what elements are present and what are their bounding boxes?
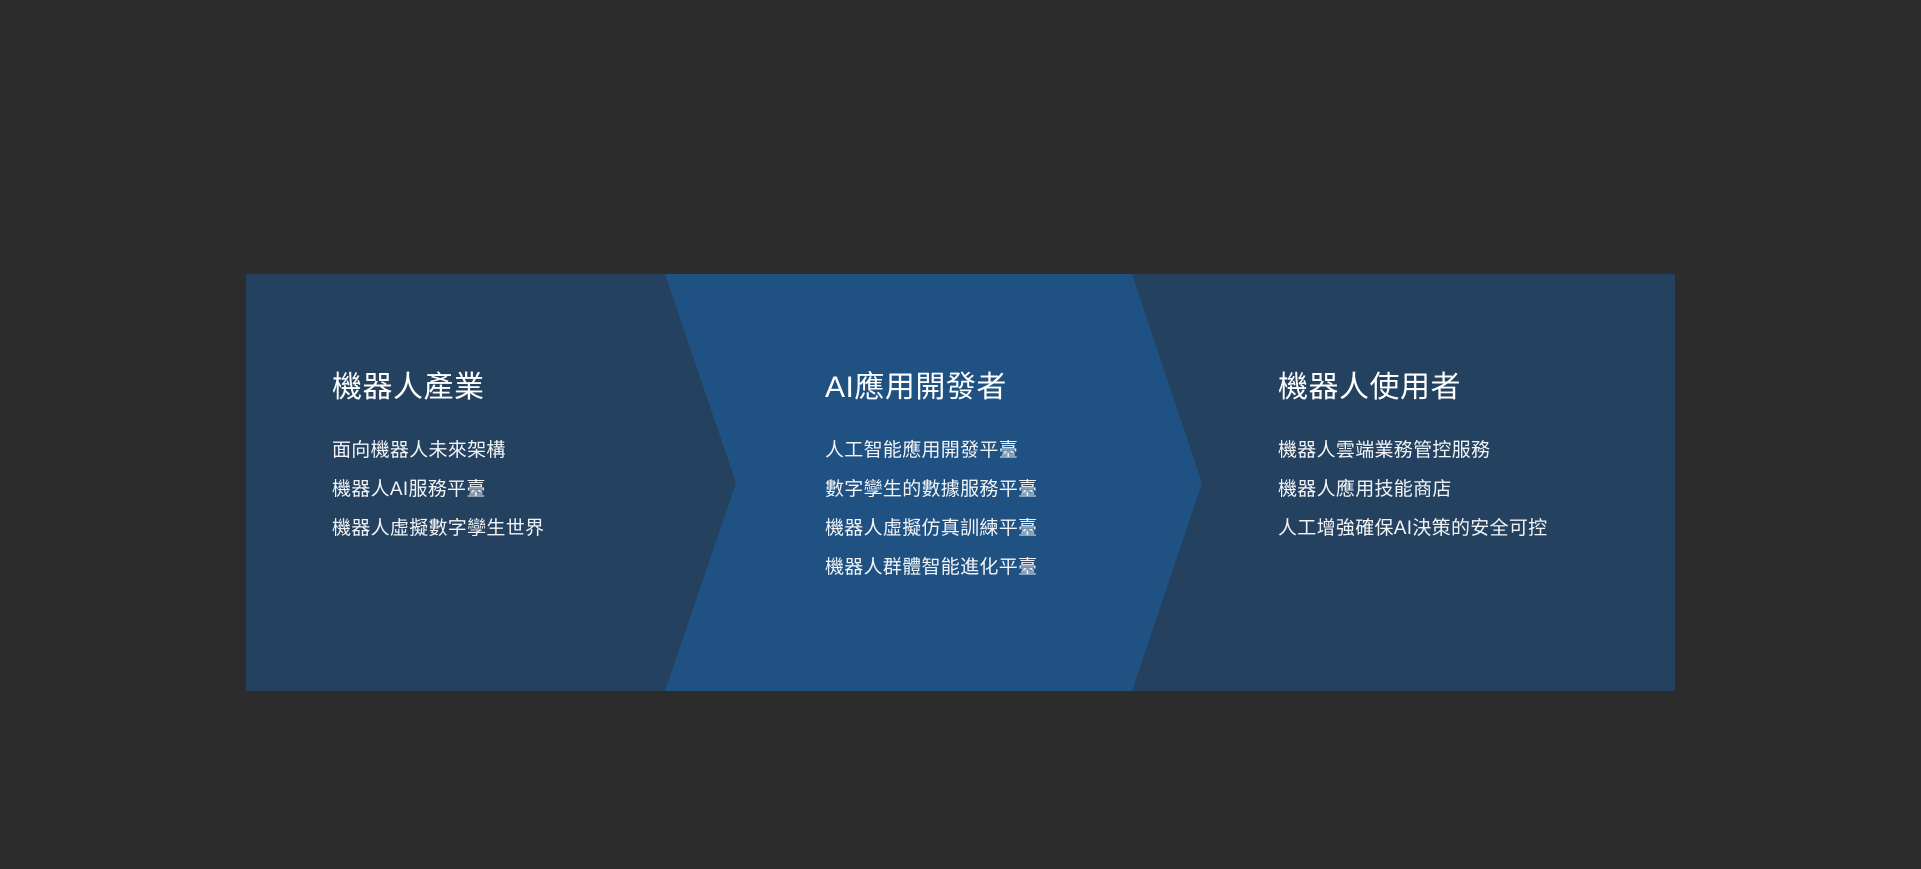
column-3-list: 機器人雲端業務管控服務 機器人應用技能商店 人工增強確保AI決策的安全可控: [1278, 431, 1547, 548]
list-item: 人工智能應用開發平臺: [825, 431, 1037, 470]
list-item: 機器人應用技能商店: [1278, 470, 1547, 509]
column-1-heading: 機器人產業: [332, 369, 485, 407]
column-1-list: 面向機器人未來架構 機器人AI服務平臺 機器人虛擬數字孿生世界: [332, 431, 544, 548]
three-stage-chevron-banner: 機器人產業 面向機器人未來架構 機器人AI服務平臺 機器人虛擬數字孿生世界 AI…: [246, 274, 1675, 691]
list-item: 機器人虛擬仿真訓練平臺: [825, 509, 1037, 548]
list-item: 機器人虛擬數字孿生世界: [332, 509, 544, 548]
list-item: 機器人AI服務平臺: [332, 470, 544, 509]
column-3-heading: 機器人使用者: [1278, 369, 1461, 407]
slide-canvas: 機器人產業 面向機器人未來架構 機器人AI服務平臺 機器人虛擬數字孿生世界 AI…: [0, 0, 1921, 869]
list-item: 數字孿生的數據服務平臺: [825, 470, 1037, 509]
list-item: 人工增強確保AI決策的安全可控: [1278, 509, 1547, 548]
list-item: 機器人雲端業務管控服務: [1278, 431, 1547, 470]
column-2-heading: AI應用開發者: [825, 369, 1007, 407]
list-item: 面向機器人未來架構: [332, 431, 544, 470]
stage-column-3: 機器人使用者 機器人雲端業務管控服務 機器人應用技能商店 人工增強確保AI決策的…: [1278, 274, 1638, 691]
stage-column-1: 機器人產業 面向機器人未來架構 機器人AI服務平臺 機器人虛擬數字孿生世界: [332, 274, 662, 691]
column-2-list: 人工智能應用開發平臺 數字孿生的數據服務平臺 機器人虛擬仿真訓練平臺 機器人群體…: [825, 431, 1037, 587]
list-item: 機器人群體智能進化平臺: [825, 548, 1037, 587]
stage-column-2: AI應用開發者 人工智能應用開發平臺 數字孿生的數據服務平臺 機器人虛擬仿真訓練…: [825, 274, 1155, 691]
